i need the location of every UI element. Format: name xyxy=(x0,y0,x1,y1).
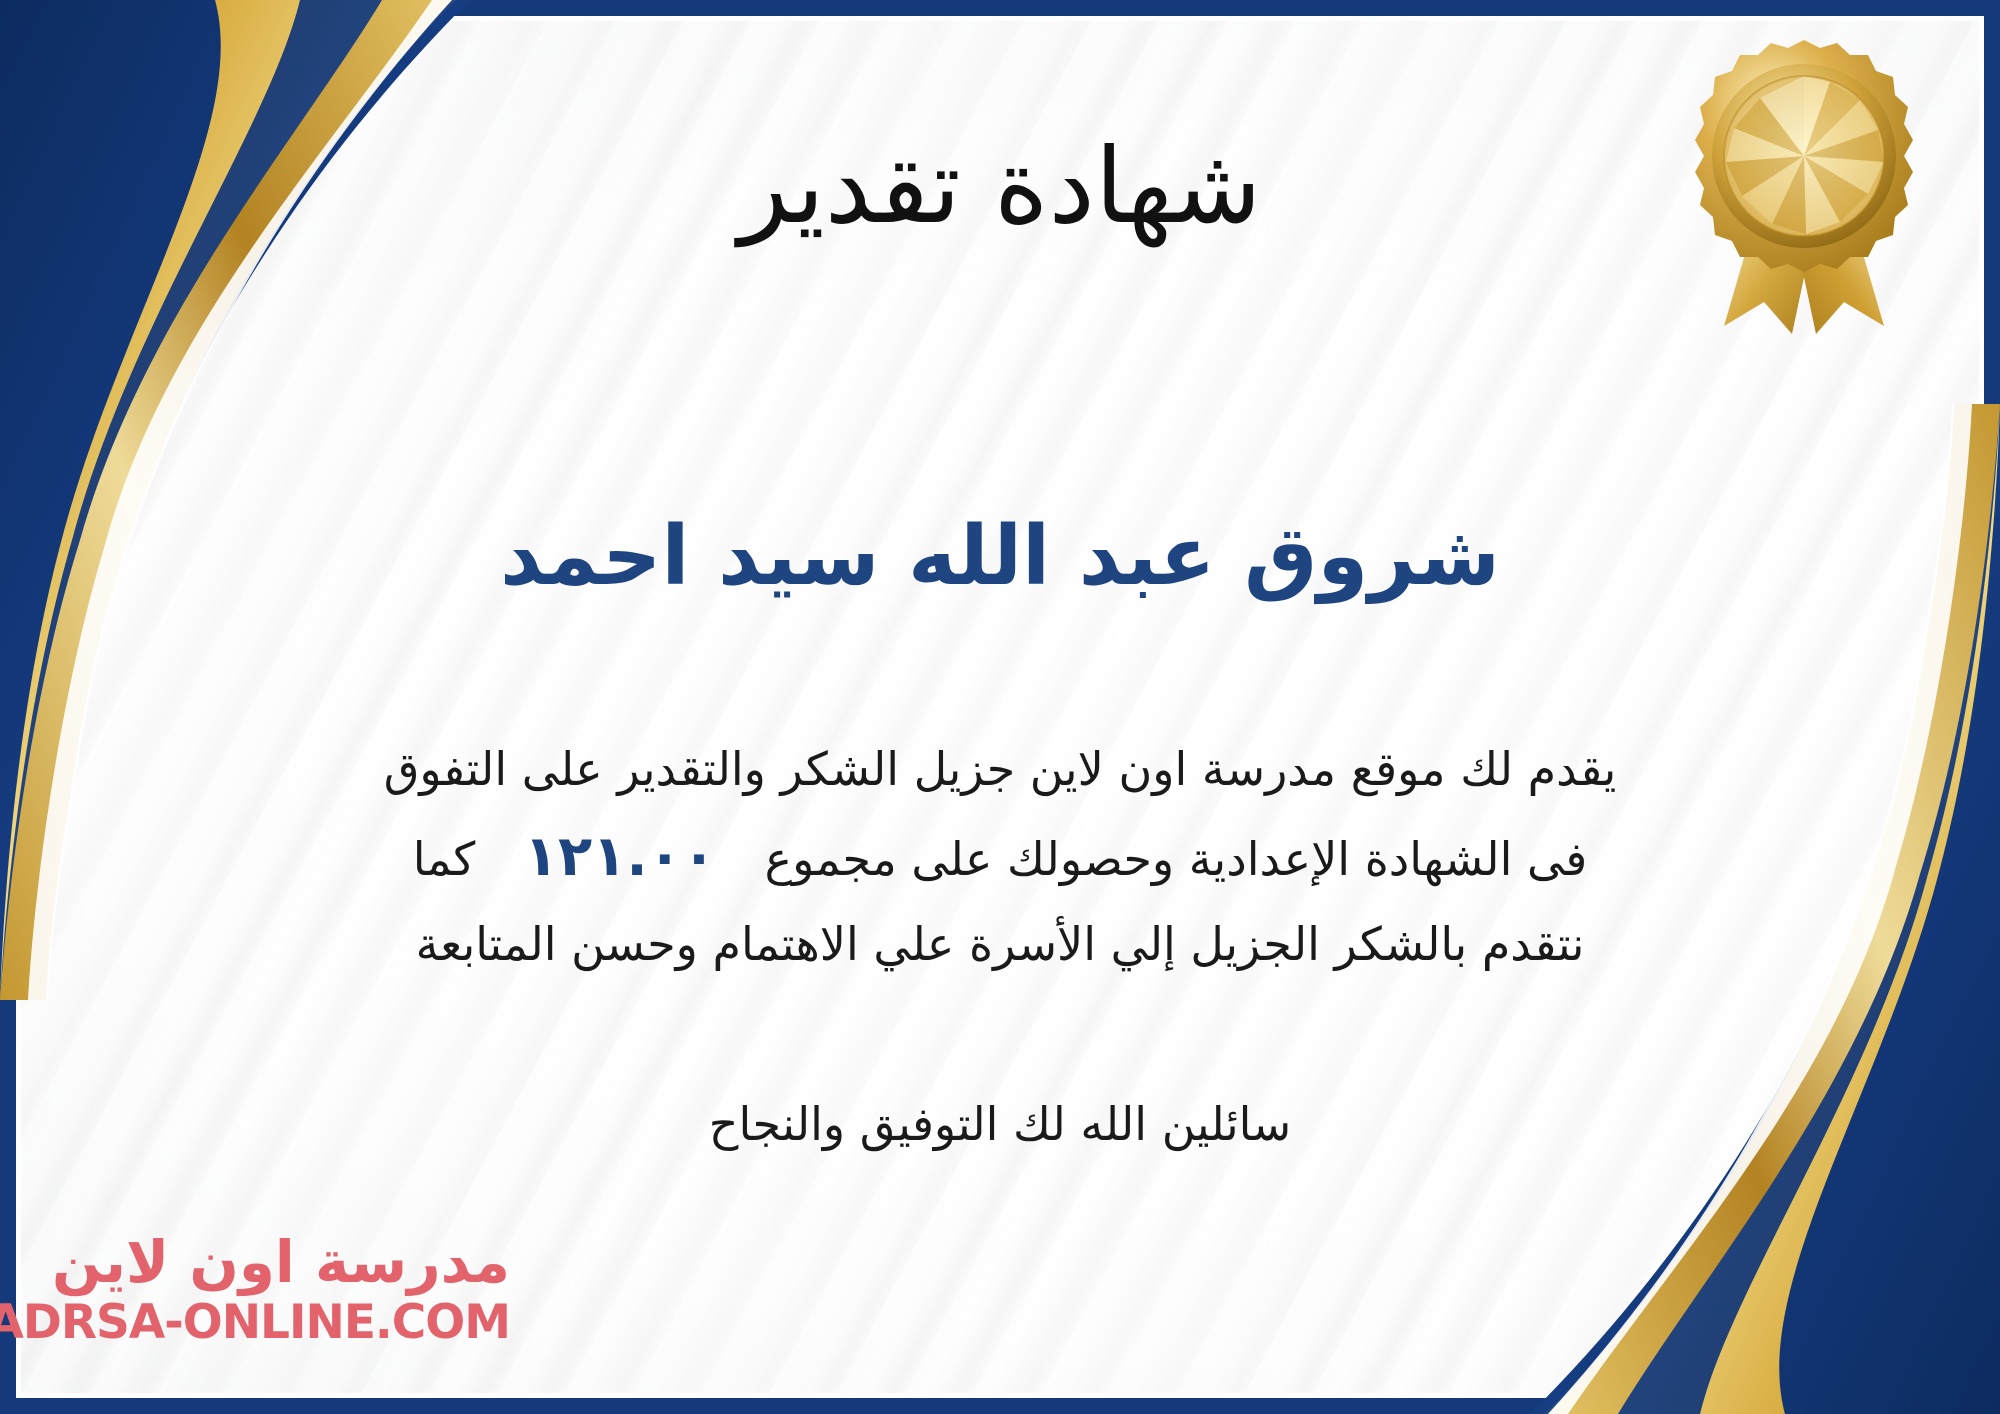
brand-logo-row: مدرسة اون لاين MADRSA-ONLINE.COM xyxy=(40,1232,510,1350)
body-line-1: يقدم لك موقع مدرسة اون لاين جزيل الشكر و… xyxy=(120,730,1880,809)
brand-text-group: مدرسة اون لاين MADRSA-ONLINE.COM xyxy=(0,1232,510,1350)
certificate-page: شهادة تقدير شروق عبد الله سيد احمد يقدم … xyxy=(0,0,2000,1414)
recipient-name: شروق عبد الله سيد احمد xyxy=(0,508,2000,606)
brand-arabic-name: مدرسة اون لاين xyxy=(0,1232,510,1293)
certificate-body: يقدم لك موقع مدرسة اون لاين جزيل الشكر و… xyxy=(120,730,1880,985)
body-line-2: فى الشهادة الإعدادية وحصولك على مجموع ١٢… xyxy=(120,809,1880,905)
total-score-value: ١٢١.٠٠ xyxy=(490,809,750,905)
certificate-title: شهادة تقدير xyxy=(0,128,2000,244)
closing-wish: سائلين الله لك التوفيق والنجاح xyxy=(0,1088,2000,1162)
certificate-content: شهادة تقدير شروق عبد الله سيد احمد يقدم … xyxy=(0,0,2000,1414)
body-line-3: نتقدم بالشكر الجزيل إلي الأسرة علي الاهت… xyxy=(120,905,1880,984)
brand-website-url: MADRSA-ONLINE.COM xyxy=(0,1295,510,1350)
brand-logo[interactable]: مدرسة اون لاين MADRSA-ONLINE.COM xyxy=(40,1232,510,1382)
body-line-2-left: كما xyxy=(413,832,476,886)
body-line-2-right: فى الشهادة الإعدادية وحصولك على مجموع xyxy=(765,832,1588,886)
